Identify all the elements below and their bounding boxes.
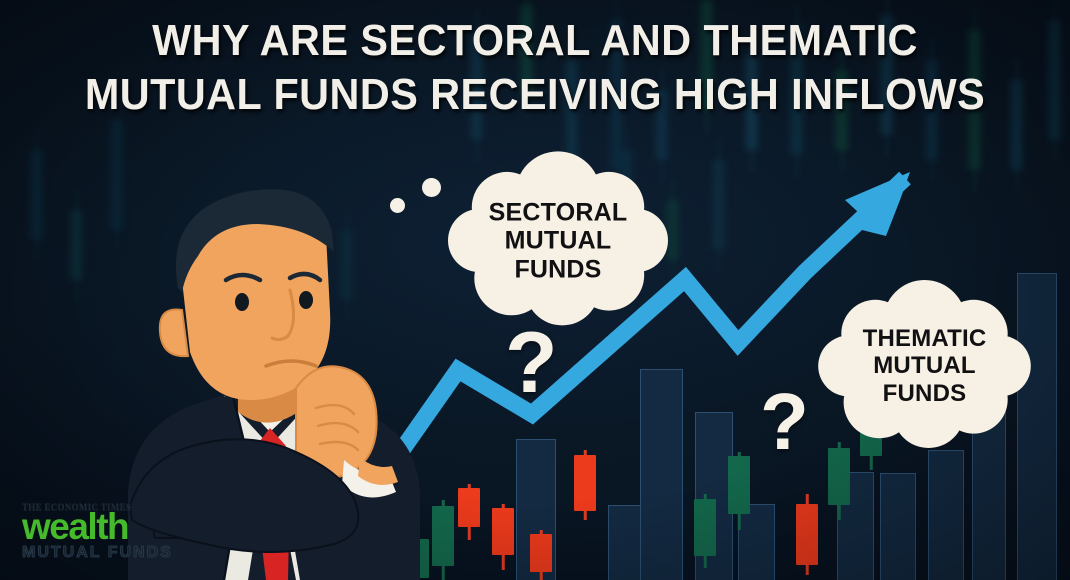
logo-subtitle: MUTUAL FUNDS <box>22 544 173 562</box>
eye-left <box>235 293 249 311</box>
qmark-right-icon: ? <box>760 382 809 462</box>
bubble-label-sectoral: SECTORAL MUTUAL FUNDS <box>452 198 664 284</box>
logo-brand: wealth <box>22 510 173 544</box>
brand-logo[interactable]: THE ECONOMIC TIMES wealth MUTUAL FUNDS <box>22 502 173 562</box>
eye-right <box>299 291 313 309</box>
trend-arrow-head <box>845 172 910 236</box>
thought-dot <box>390 198 405 213</box>
thought-bubble-sectoral: SECTORAL MUTUAL FUNDS <box>452 168 664 313</box>
infographic-canvas: ?? <box>0 0 1070 580</box>
thought-dot <box>422 178 441 197</box>
qmark-left-icon: ? <box>505 320 558 406</box>
thought-bubble-thematic: THEMATIC MUTUAL FUNDS <box>822 296 1027 436</box>
bubble-label-thematic: THEMATIC MUTUAL FUNDS <box>822 325 1027 407</box>
page-title: WHY ARE SECTORAL AND THEMATIC MUTUAL FUN… <box>32 14 1038 122</box>
ear <box>160 309 188 356</box>
